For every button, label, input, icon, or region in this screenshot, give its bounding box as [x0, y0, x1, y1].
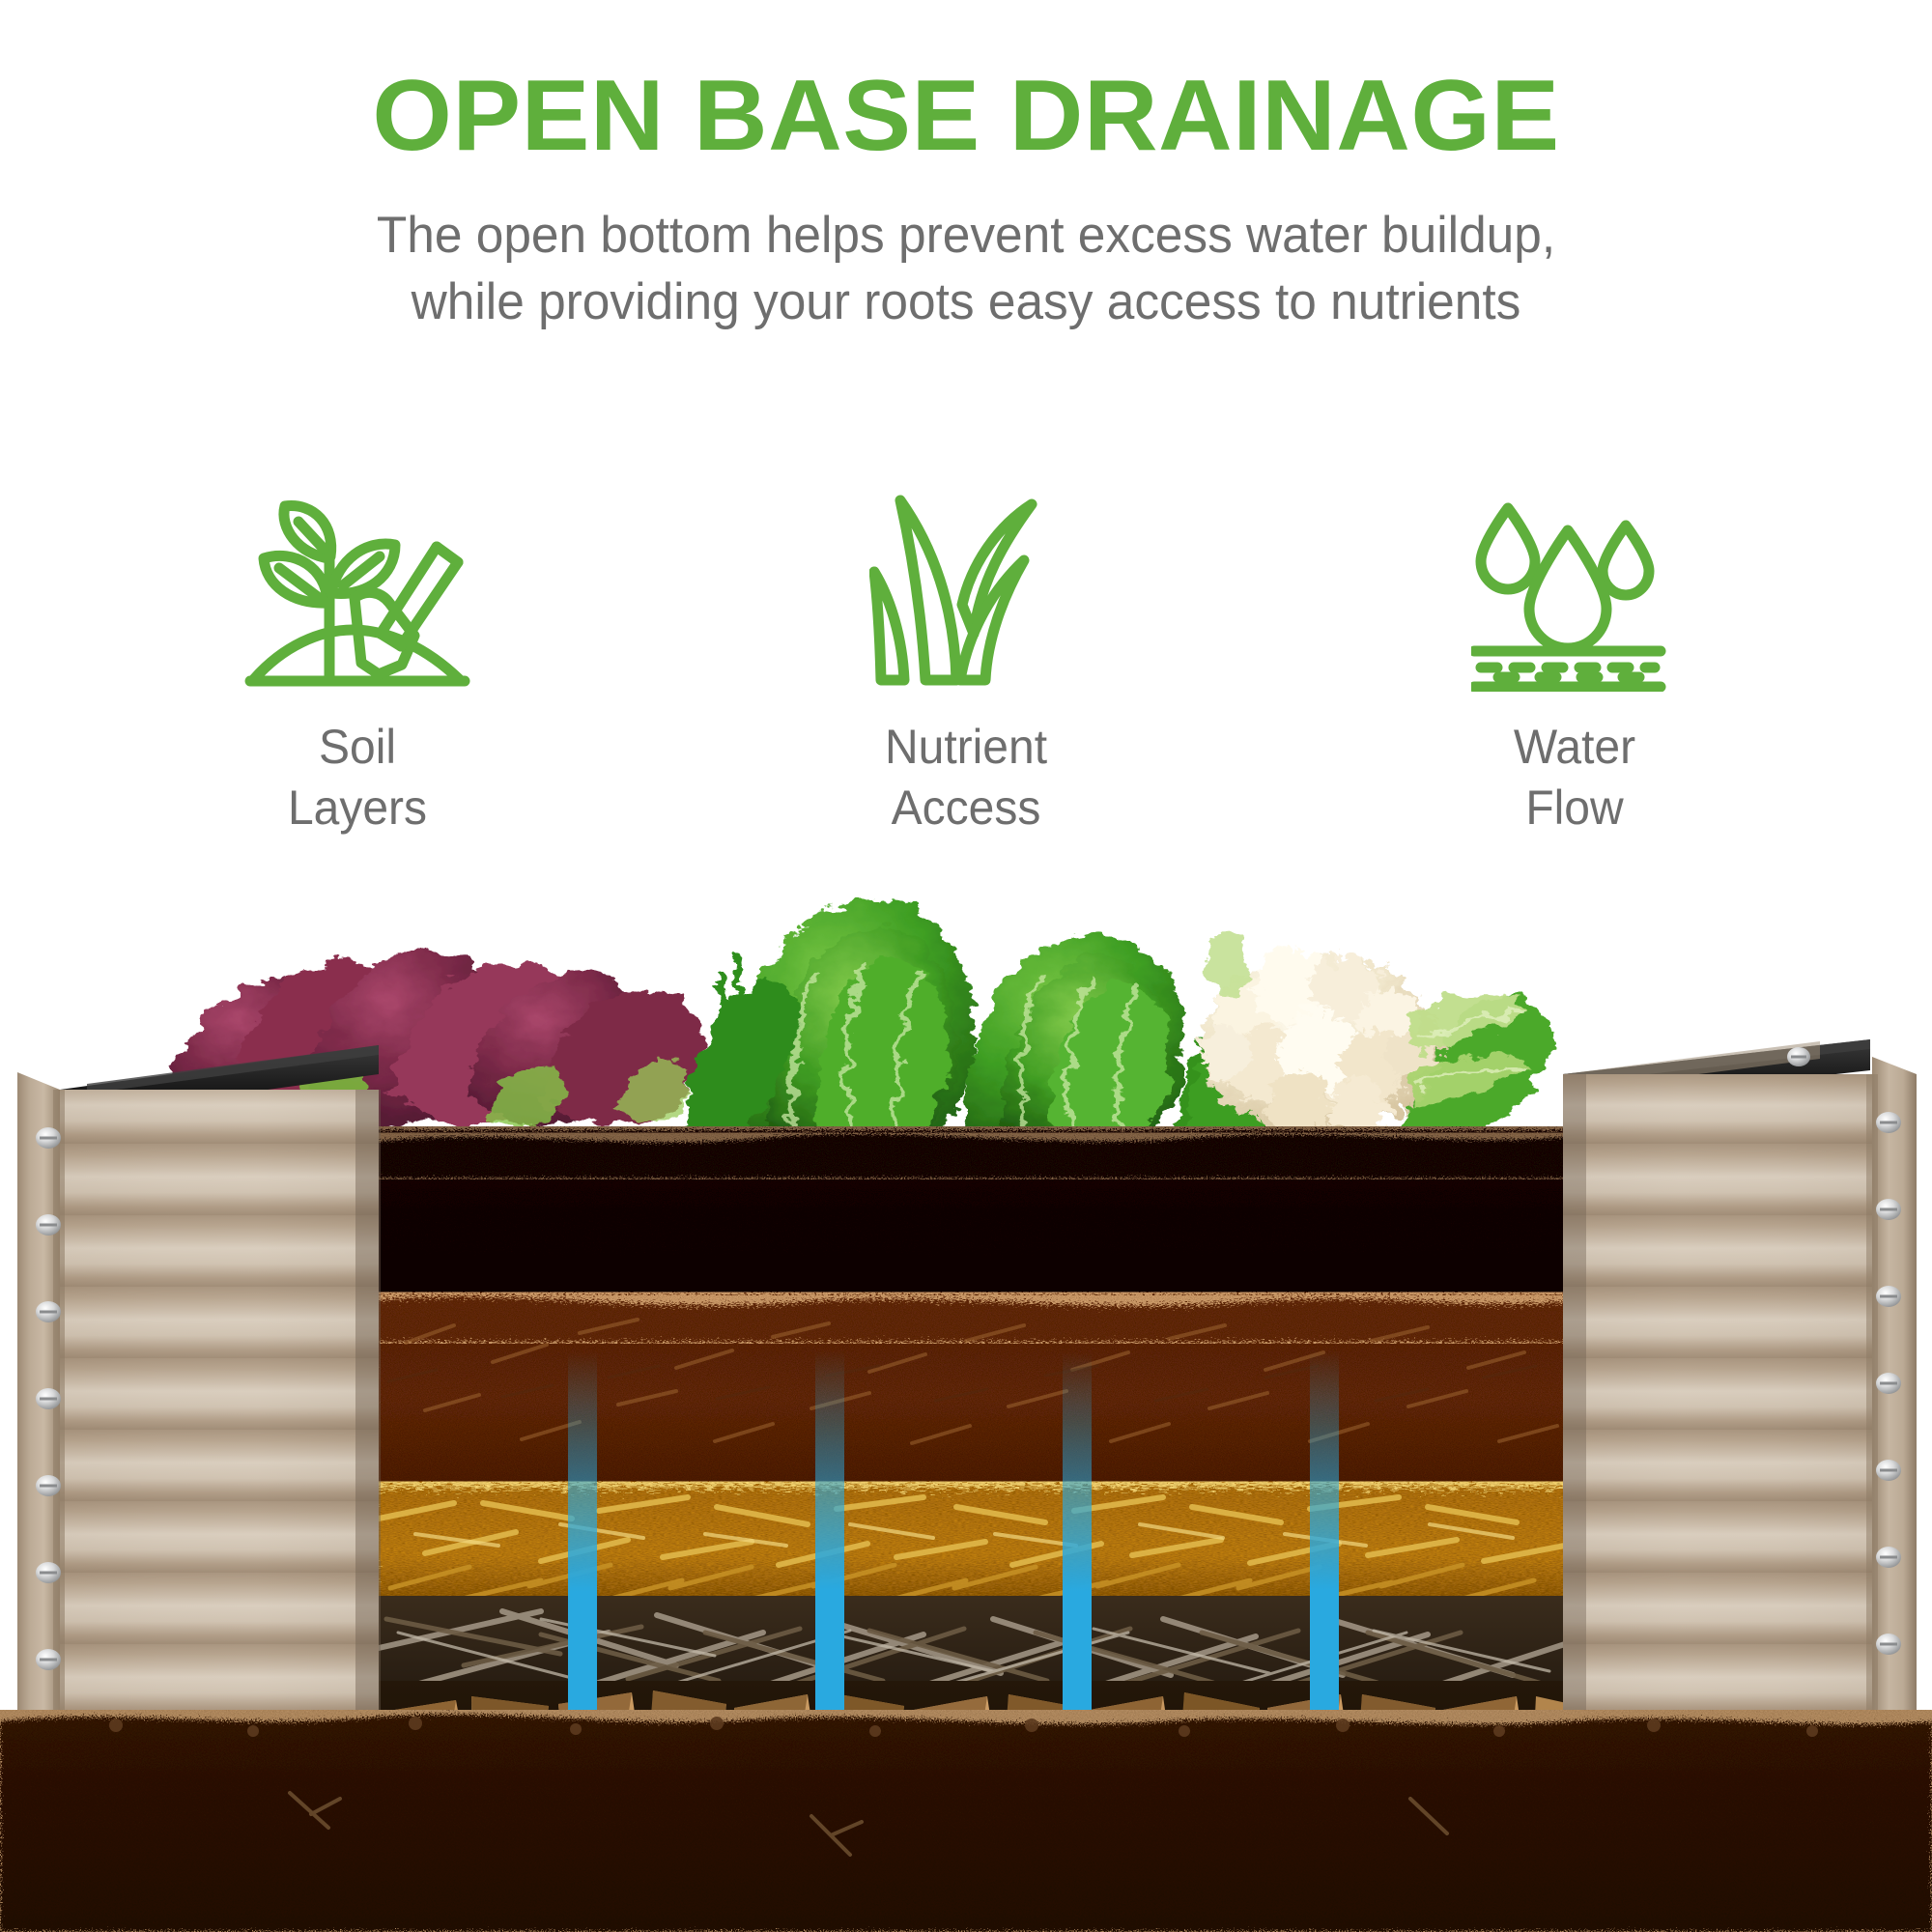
plant-shovel-icon [145, 481, 570, 703]
screw-column-right [1876, 1112, 1901, 1655]
water-flow-arrow [543, 1352, 622, 1812]
screw [1876, 1634, 1901, 1655]
screw-column-left [36, 1127, 61, 1670]
screw [1876, 1286, 1901, 1307]
ground-soil-foreground [0, 1715, 1932, 1932]
screw [36, 1214, 61, 1236]
bed-panel-left [17, 1045, 381, 1727]
grass-blades-icon [753, 481, 1179, 703]
corrugated-panel-right [1563, 1074, 1872, 1729]
subtitle-line-1: The open bottom helps prevent excess wat… [29, 203, 1903, 270]
screw [1787, 1047, 1810, 1066]
water-flow-arrow [1285, 1350, 1364, 1810]
subtitle-line-2: while providing your roots easy access t… [29, 270, 1903, 336]
feature-label-line-2: Layers [154, 778, 561, 838]
feature-row: Soil Layers Nutrient Access [0, 481, 1932, 838]
water-droplets-permeable-layer-icon [1362, 481, 1787, 703]
screw [36, 1301, 61, 1322]
feature-label-line-1: Water [1371, 717, 1778, 778]
feature-nutrient-access-label: Nutrient Access [762, 717, 1170, 838]
screw [36, 1127, 61, 1149]
screw [1876, 1547, 1901, 1568]
feature-water-flow-label: Water Flow [1371, 717, 1778, 838]
header-block: OPEN BASE DRAINAGE The open bottom helps… [0, 0, 1932, 336]
corner-post-left [17, 1072, 60, 1727]
mulch-bark-layer [373, 1296, 1571, 1499]
water-flow-arrow [790, 1350, 869, 1810]
corner-post-right [1872, 1057, 1917, 1729]
feature-label-line-2: Access [762, 778, 1170, 838]
cauliflower [1188, 927, 1550, 1146]
feature-label-line-1: Nutrient [762, 717, 1170, 778]
twig-branch-layer [373, 1596, 1571, 1702]
water-flow-arrow [1037, 1352, 1117, 1812]
screw [1876, 1112, 1901, 1133]
feature-soil-layers-label: Soil Layers [154, 717, 561, 838]
green-cabbage [687, 899, 1291, 1146]
screw [36, 1562, 61, 1583]
panel-rim-cap-right [1563, 1039, 1870, 1105]
corrugated-panel-left [60, 1090, 379, 1727]
feature-nutrient-access: Nutrient Access [753, 481, 1179, 838]
screw [1876, 1199, 1901, 1220]
screw [36, 1388, 61, 1409]
split-logs [383, 1690, 1571, 1777]
drainage-arrow-group [543, 1350, 1364, 1812]
plant-group [164, 899, 1550, 1146]
feature-label-line-1: Soil [154, 717, 561, 778]
screw [1876, 1460, 1901, 1481]
straw-layer [373, 1488, 1571, 1611]
panel-rim-cap-left [60, 1045, 379, 1119]
log-layer [373, 1681, 1571, 1777]
bed-panel-right [1563, 1039, 1917, 1729]
screw [36, 1649, 61, 1670]
red-leaf-lettuce [164, 952, 761, 1126]
page-subtitle: The open bottom helps prevent excess wat… [29, 203, 1903, 336]
ground-soil [0, 1710, 1932, 1932]
feature-water-flow: Water Flow [1362, 481, 1787, 838]
screw [1876, 1373, 1901, 1394]
page-title: OPEN BASE DRAINAGE [0, 66, 1932, 166]
feature-label-line-2: Flow [1371, 778, 1778, 838]
soil-cross-section [373, 1130, 1571, 1777]
screw [36, 1475, 61, 1496]
feature-soil-layers: Soil Layers [145, 481, 570, 838]
topsoil-compost-layer [373, 1130, 1571, 1304]
